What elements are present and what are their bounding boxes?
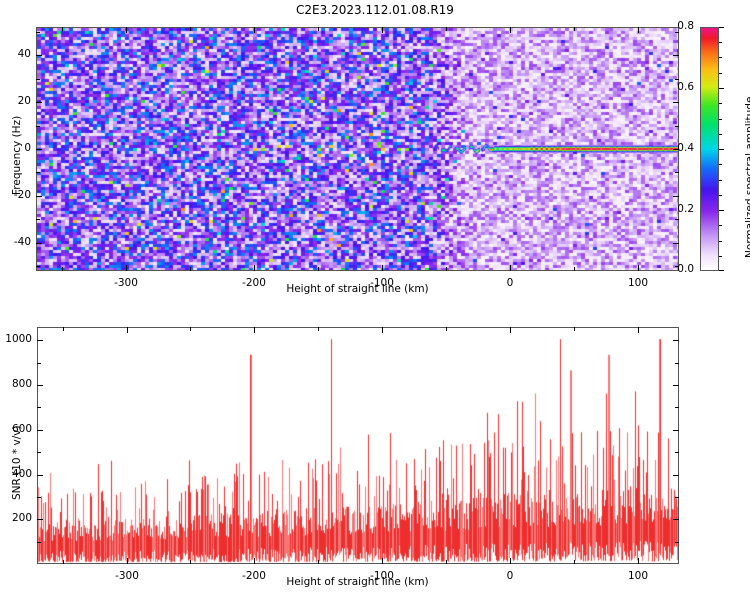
tick-mark [510,558,511,564]
tick-mark [673,519,679,520]
tick-mark [446,267,447,271]
tick-mark [510,27,511,33]
tick-mark [719,241,722,242]
spectrogram-image [37,28,678,270]
tick-mark [254,558,255,564]
tick-mark [719,27,724,28]
tick-mark [382,327,383,333]
tick-mark [719,57,722,58]
tick-mark [382,558,383,564]
tick-mark [36,196,42,197]
tick-mark [675,79,679,80]
tick-mark [719,270,724,271]
tick-mark [36,243,42,244]
tick-mark [190,327,191,331]
tick-mark [37,475,43,476]
tick-mark [675,497,679,498]
tick-mark [36,55,42,56]
tick-mark [36,172,40,173]
tick-mark [719,73,722,74]
tick-mark [318,560,319,564]
tick-mark [719,180,722,181]
tick-mark [719,256,722,257]
tick-mark [63,560,64,564]
tick-mark [574,27,575,31]
tick-mark [675,542,679,543]
tick-mark [675,219,679,220]
snr-x-axis-label: Height of straight line (km) [0,576,715,588]
tick-mark [382,265,383,271]
spectrogram-y-axis-label: Frequency (Hz) [11,116,23,195]
y-tick-label: -40 [14,236,31,248]
snr-y-axis-label: SNR (10 * v/v) [11,425,23,500]
tick-mark [638,27,639,33]
tick-mark [446,27,447,31]
tick-mark [37,519,43,520]
y-tick-label: 20 [18,95,31,107]
tick-mark [675,32,679,33]
tick-mark [37,452,41,453]
tick-mark [254,27,255,33]
tick-mark [190,27,191,31]
tick-mark [63,327,64,331]
figure-title: C2E3.2023.112.01.08.R19 [0,3,750,17]
tick-mark [673,340,679,341]
colorbar-tick-label: 0.6 [677,81,694,93]
tick-mark [675,407,679,408]
tick-mark [37,363,41,364]
tick-mark [719,134,722,135]
tick-mark [675,172,679,173]
y-tick-label: 200 [12,512,32,524]
tick-mark [673,243,679,244]
tick-mark [673,430,679,431]
tick-mark [36,126,40,127]
tick-mark [36,102,42,103]
tick-mark [510,327,511,333]
tick-mark [719,149,724,150]
tick-mark [318,27,319,31]
tick-mark [318,327,319,331]
tick-mark [446,560,447,564]
tick-mark [62,27,63,31]
tick-mark [126,265,127,271]
tick-mark [382,27,383,33]
tick-mark [37,385,43,386]
tick-mark [254,327,255,333]
tick-mark [638,327,639,333]
tick-mark [719,225,722,226]
tick-mark [675,452,679,453]
tick-mark [318,267,319,271]
tick-mark [574,560,575,564]
tick-mark [36,266,40,267]
tick-mark [254,265,255,271]
spectrogram-panel [36,27,679,271]
tick-mark [574,267,575,271]
tick-mark [510,265,511,271]
colorbar-tick-label: 0.0 [677,263,694,275]
spectrogram-x-axis-label: Height of straight line (km) [0,283,715,295]
tick-mark [36,79,40,80]
y-tick-label: 1000 [5,333,32,345]
tick-mark [719,164,722,165]
tick-mark [37,542,41,543]
tick-mark [719,42,722,43]
tick-mark [719,103,722,104]
snr-panel [37,327,679,564]
tick-mark [37,430,43,431]
y-tick-label: 40 [18,48,31,60]
tick-mark [36,149,42,150]
colorbar-label: Normalized spectral amplitude [744,97,750,258]
tick-mark [36,32,40,33]
snr-plot-area [38,328,678,563]
tick-mark [673,475,679,476]
tick-mark [673,196,679,197]
tick-mark [36,219,40,220]
tick-mark [446,327,447,331]
tick-mark [127,327,128,333]
tick-mark [638,558,639,564]
tick-mark [37,407,41,408]
tick-mark [719,195,722,196]
tick-mark [638,265,639,271]
tick-mark [190,267,191,271]
tick-mark [673,102,679,103]
tick-mark [675,126,679,127]
tick-mark [62,267,63,271]
tick-mark [127,558,128,564]
tick-mark [719,210,724,211]
tick-mark [37,340,43,341]
tick-mark [574,327,575,331]
colorbar [700,27,719,271]
figure-canvas: C2E3.2023.112.01.08.R19 -300-200-1000100… [0,0,750,600]
tick-mark [719,119,722,120]
y-tick-label: 0 [24,142,31,154]
tick-mark [673,385,679,386]
colorbar-tick-label: 0.2 [677,203,694,215]
tick-mark [719,88,724,89]
colorbar-tick-label: 0.8 [677,20,694,32]
tick-mark [675,363,679,364]
tick-mark [190,560,191,564]
tick-mark [126,27,127,33]
colorbar-gradient [701,28,718,270]
tick-mark [673,55,679,56]
tick-mark [37,497,41,498]
colorbar-tick-label: 0.4 [677,142,694,154]
y-tick-label: 800 [12,378,32,390]
